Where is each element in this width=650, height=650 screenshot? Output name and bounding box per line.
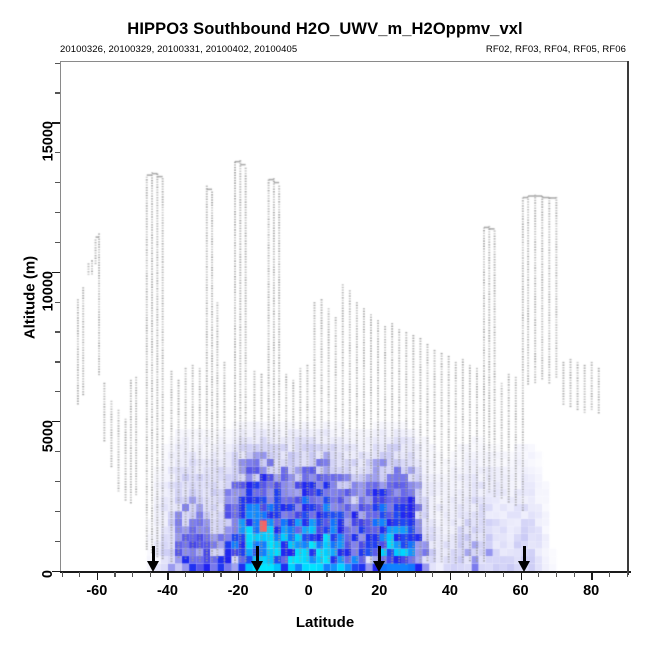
latitude-arrow-marker — [251, 546, 264, 572]
y-tick-label: 15000 — [40, 121, 56, 161]
x-tick-label: 40 — [442, 583, 458, 599]
x-tick-label: 0 — [305, 583, 313, 599]
y-tick-label: 5000 — [40, 420, 56, 452]
latitude-arrow-marker — [518, 546, 531, 572]
subtitle-flights: RF02, RF03, RF04, RF05, RF06 — [486, 44, 626, 55]
latitude-arrow-marker — [373, 546, 386, 572]
x-tick-label: 80 — [583, 583, 599, 599]
y-tick-label: 0 — [40, 570, 56, 578]
y-tick-label: 10000 — [40, 271, 56, 311]
x-tick-label: 60 — [512, 583, 528, 599]
heatmap-canvas — [62, 63, 627, 571]
latitude-arrow-marker — [147, 546, 160, 572]
x-axis-title: Latitude — [0, 614, 650, 631]
plot-root: HIPPO3 Southbound H2O_UWV_m_H2Oppmv_vxl … — [0, 0, 650, 650]
x-tick-label: -20 — [228, 583, 249, 599]
x-tick-label: -40 — [157, 583, 178, 599]
x-tick-label: -60 — [86, 583, 107, 599]
x-tick-label: 20 — [371, 583, 387, 599]
y-axis-title: Altitude (m) — [22, 218, 39, 378]
subtitle-dates: 20100326, 20100329, 20100331, 20100402, … — [60, 44, 297, 55]
page-title: HIPPO3 Southbound H2O_UWV_m_H2Oppmv_vxl — [0, 20, 650, 39]
